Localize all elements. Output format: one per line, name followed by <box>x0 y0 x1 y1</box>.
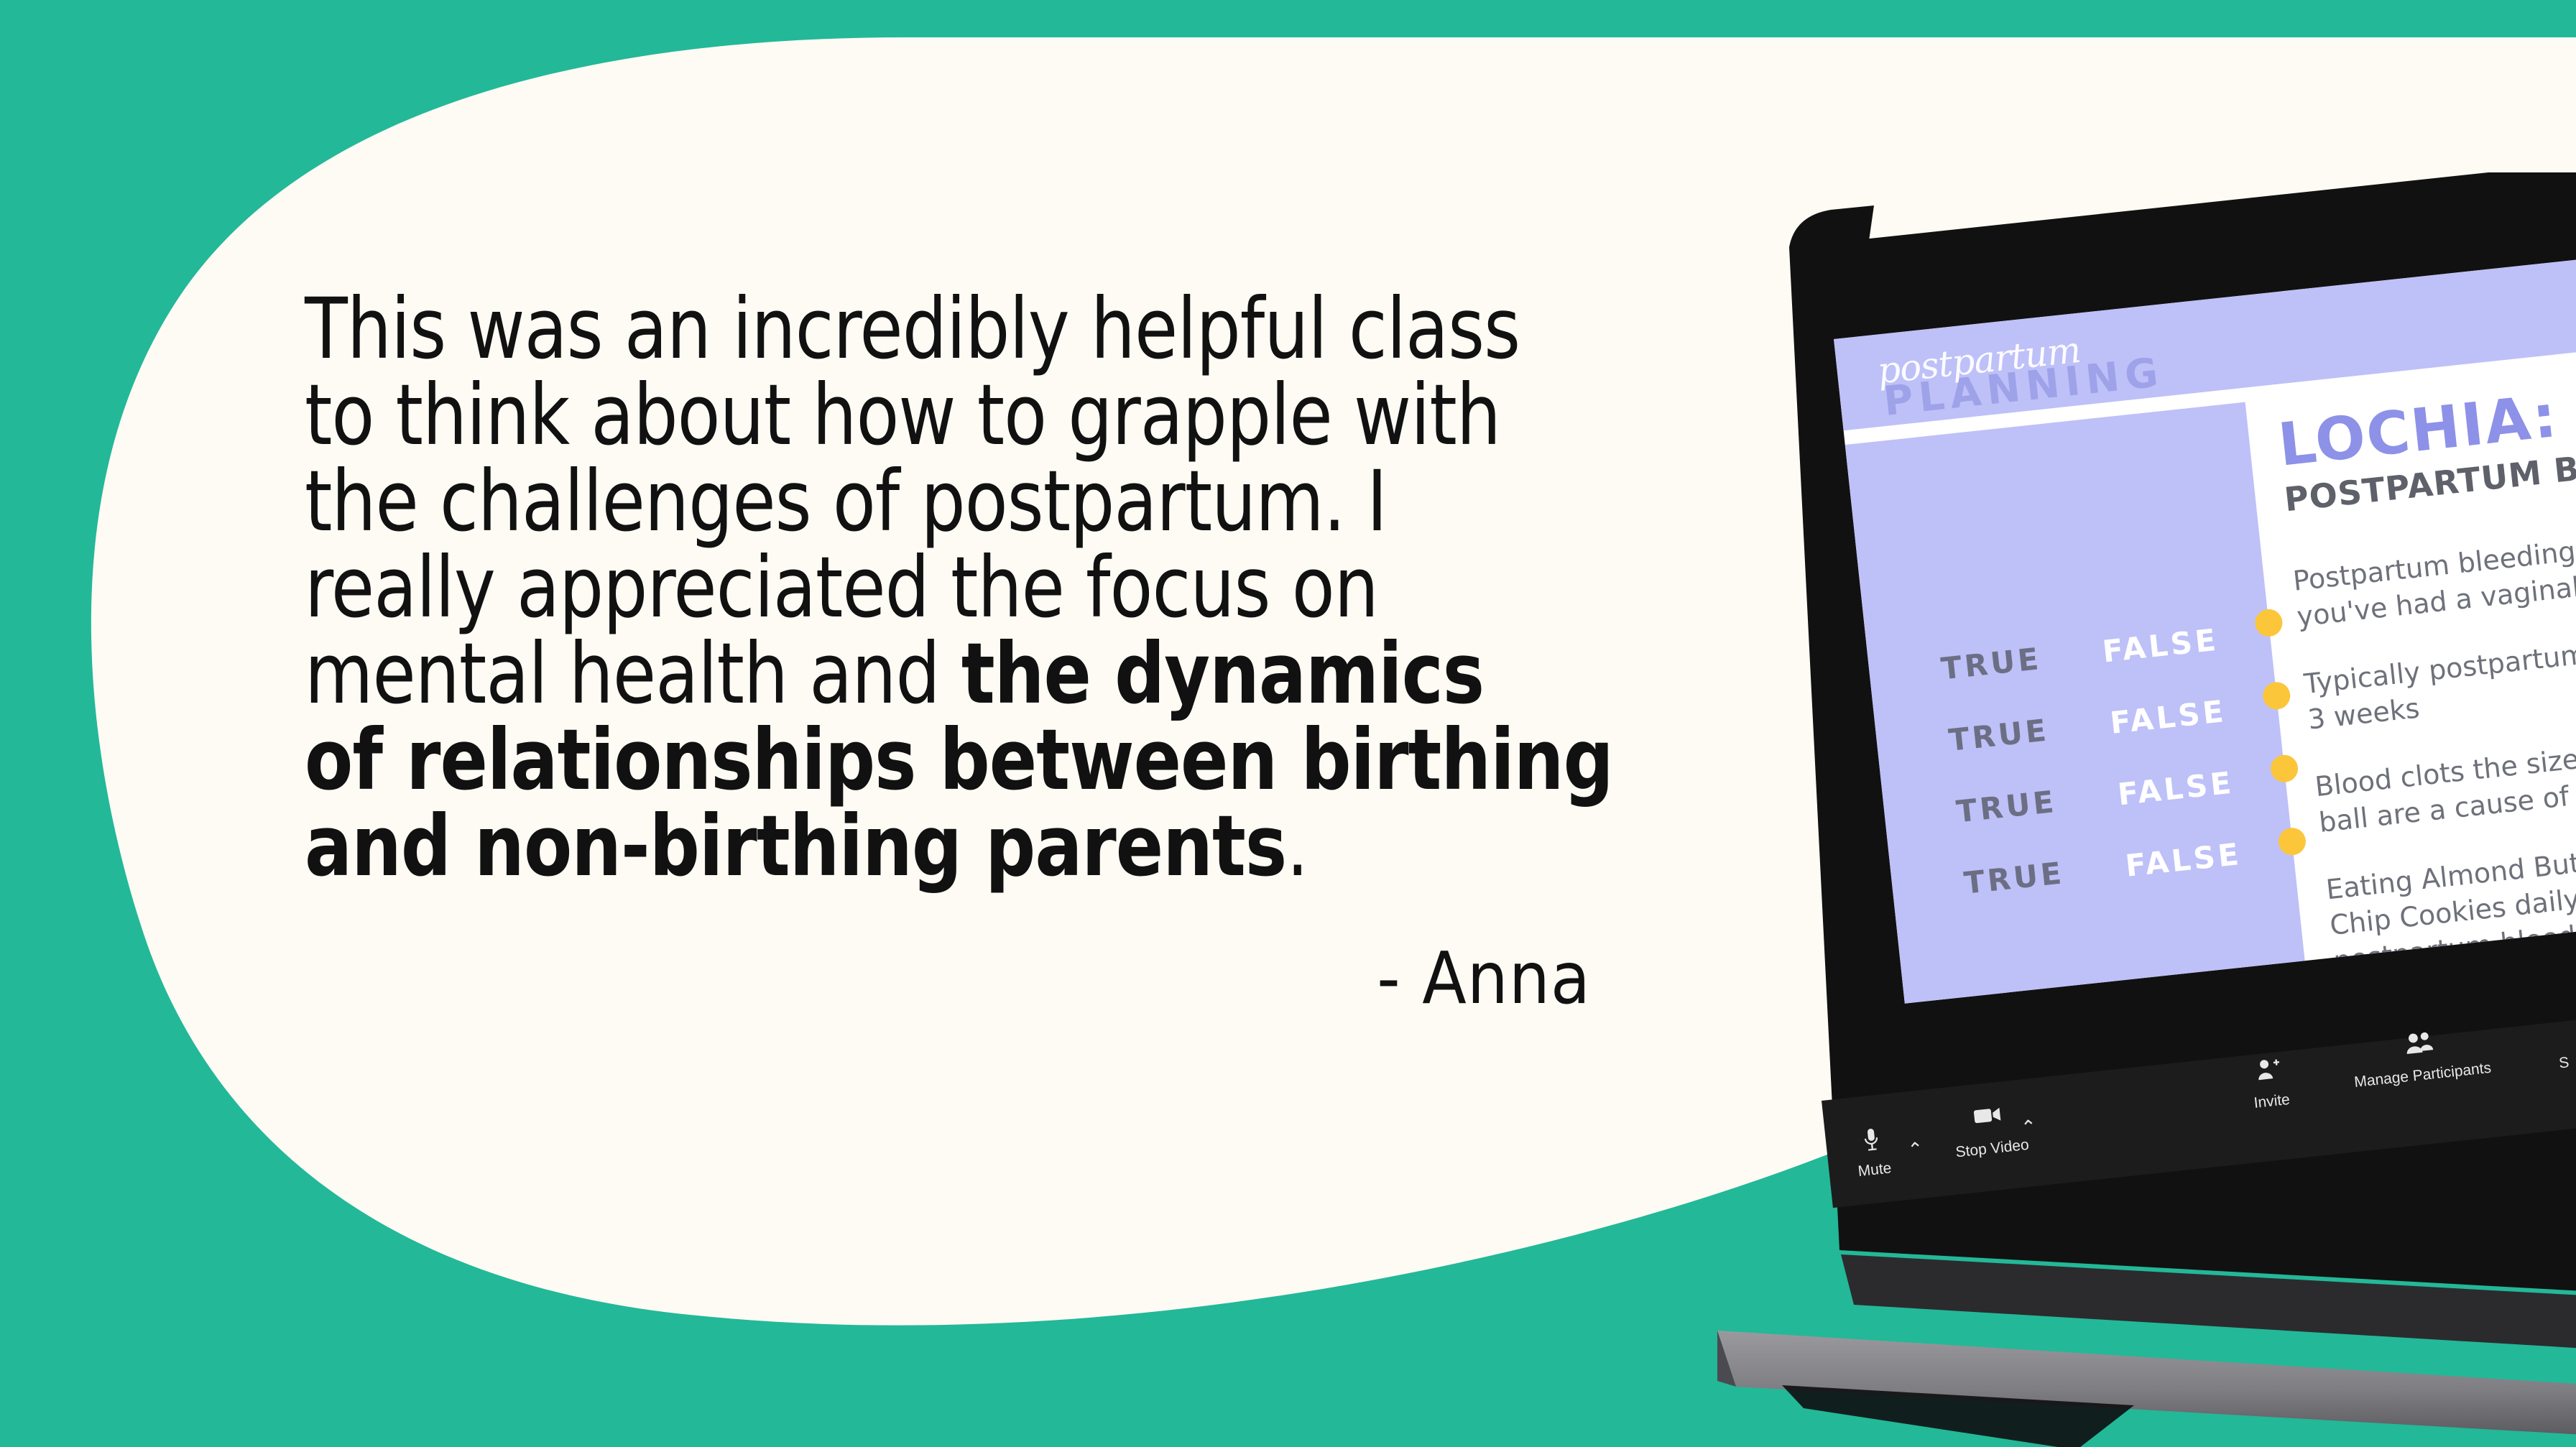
quote-bold-fragment-3: and non-birthing parents <box>305 797 1286 895</box>
quote-period: . <box>1286 797 1308 895</box>
quote-line-2: to think about how to grapple with <box>305 372 1501 458</box>
laptop-mockup: postpartum PLANNING TRUE FALSE TRUE FALS… <box>1674 172 2576 1447</box>
laptop-chassis <box>1674 172 2576 1447</box>
quote-line-7: and non-birthing parents. <box>305 803 1501 889</box>
quote-line-1: This was an incredibly helpful class <box>305 286 1501 372</box>
quote-bold-fragment-1: the dynamics <box>961 624 1484 723</box>
testimonial-graphic: This was an incredibly helpful class to … <box>0 0 2576 1447</box>
quote-line-6: of relationships between birthing <box>305 717 1501 803</box>
quote-line-5: mental health and the dynamics <box>305 631 1501 717</box>
quote-bold-fragment-2: of relationships between birthing <box>305 711 1613 809</box>
quote-regular-fragment: mental health and <box>305 624 961 723</box>
laptop-base <box>1717 1331 2576 1437</box>
quote-line-4: really appreciated the focus on <box>305 545 1501 631</box>
laptop-bezel <box>1789 172 2576 1293</box>
quote-attribution: - Anna <box>305 940 1591 1017</box>
testimonial-quote: This was an incredibly helpful class to … <box>305 286 1591 889</box>
quote-line-3: the challenges of postpartum. I <box>305 458 1501 545</box>
